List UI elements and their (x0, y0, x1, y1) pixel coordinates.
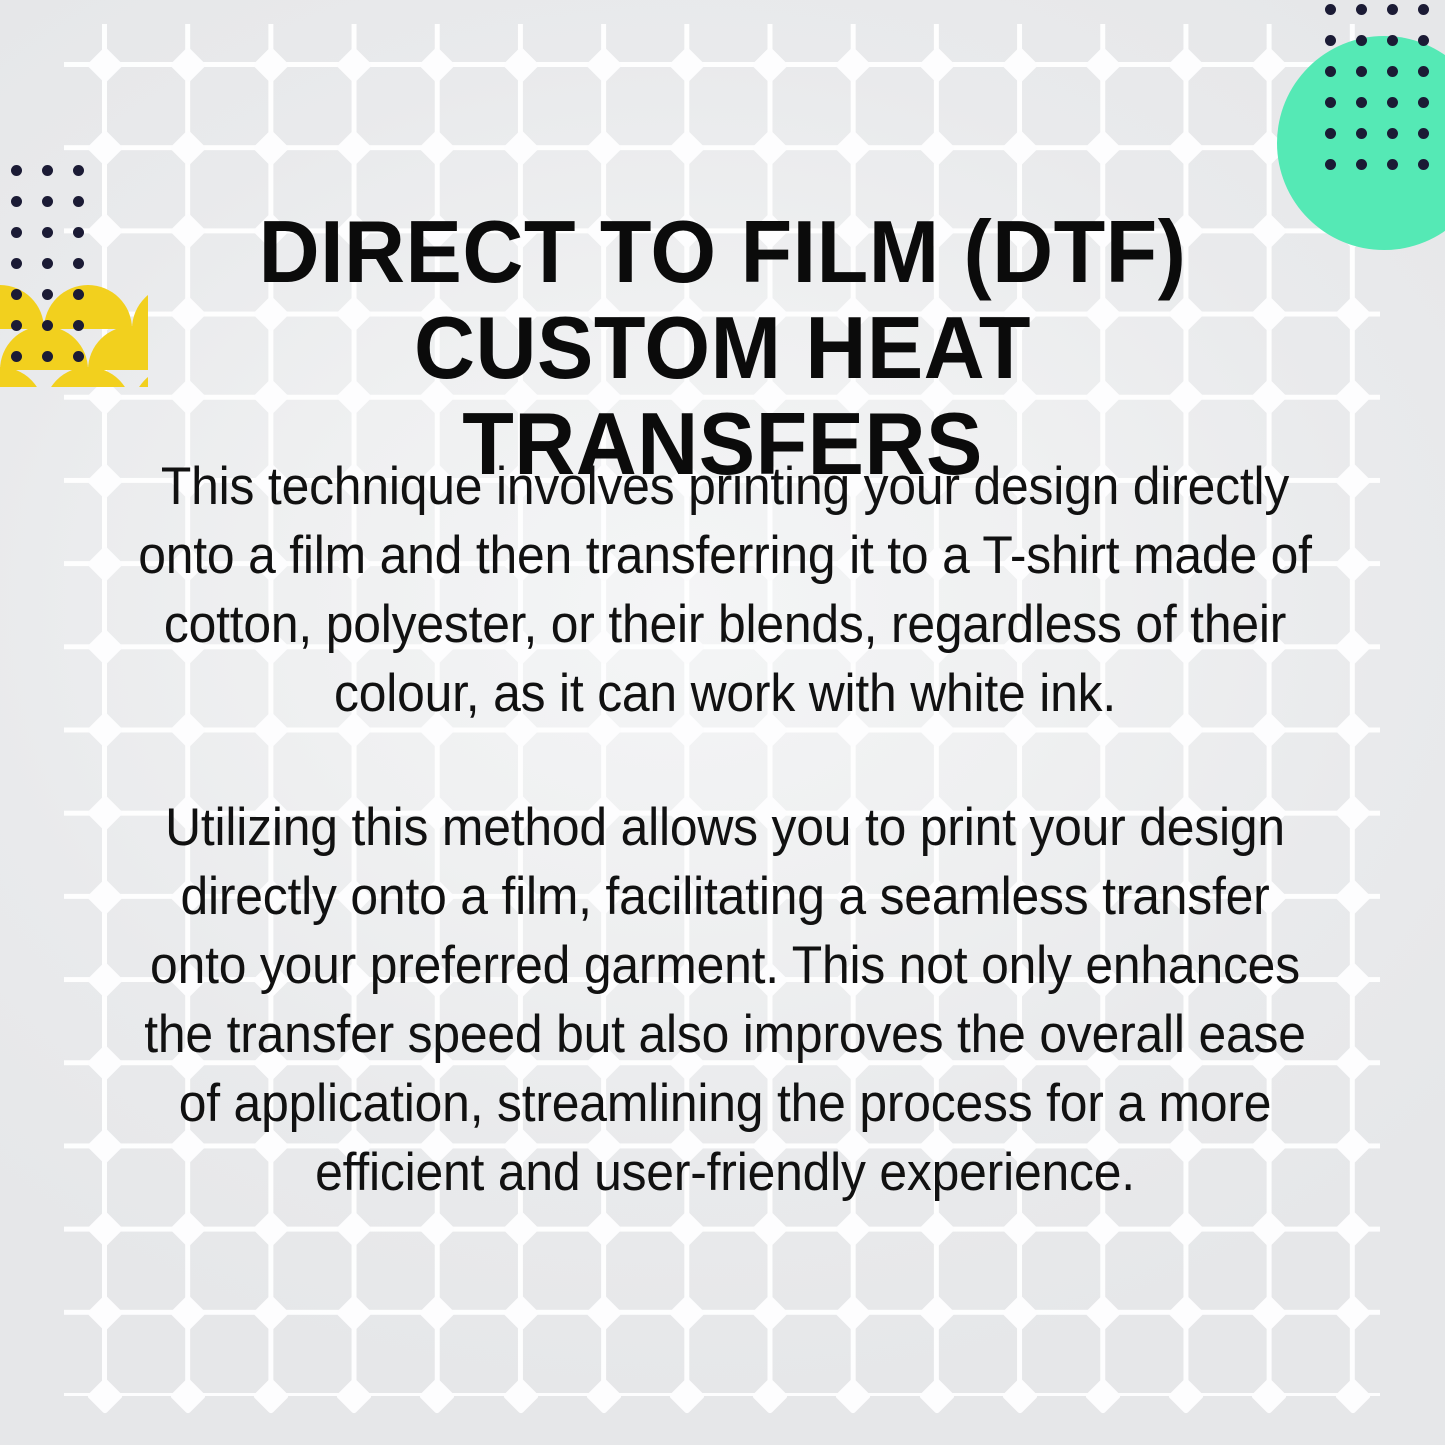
page-title: DIRECT TO FILM (DTF) CUSTOM HEAT TRANSFE… (144, 204, 1301, 492)
body-copy: This technique involves printing your de… (96, 452, 1354, 1207)
paragraph-1: This technique involves printing your de… (134, 452, 1317, 728)
content-area: DIRECT TO FILM (DTF) CUSTOM HEAT TRANSFE… (0, 0, 1445, 1445)
paragraph-2: Utilizing this method allows you to prin… (134, 793, 1317, 1207)
poster-canvas: DIRECT TO FILM (DTF) CUSTOM HEAT TRANSFE… (0, 0, 1445, 1445)
